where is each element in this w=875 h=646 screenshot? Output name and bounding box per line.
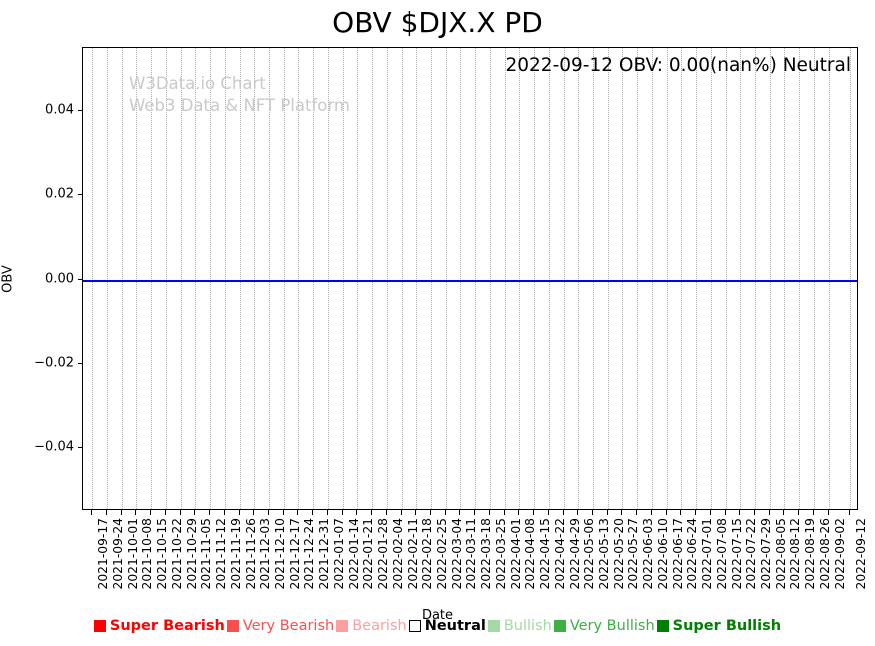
x-axis-tick-mark [150, 510, 151, 515]
gridline [151, 48, 152, 509]
gridline [181, 48, 182, 509]
legend-item[interactable]: Very Bullish [554, 618, 655, 634]
x-axis-tick-label: 2021-12-24 [302, 518, 316, 589]
x-axis-tick-mark [401, 510, 402, 515]
x-axis-tick-label: 2022-08-05 [774, 518, 788, 589]
x-axis-tick-mark [253, 510, 254, 515]
x-axis-tick-mark [813, 510, 814, 515]
y-axis-title: OBV [1, 265, 16, 293]
x-axis-tick-label: 2021-12-17 [288, 518, 302, 589]
x-axis-tick-label: 2022-06-17 [671, 518, 685, 589]
x-axis-tick-mark [474, 510, 475, 515]
gridline [107, 48, 108, 509]
x-axis-tick-label: 2022-07-15 [730, 518, 744, 589]
x-axis-tick-mark [769, 510, 770, 515]
x-axis-tick-label: 2022-01-14 [347, 518, 361, 589]
legend-label: Bullish [504, 618, 552, 634]
x-axis-tick-label: 2022-04-08 [523, 518, 537, 589]
legend-swatch-icon [336, 620, 348, 632]
x-axis-tick-label: 2022-04-15 [538, 518, 552, 589]
x-axis-tick-mark [342, 510, 343, 515]
chart-figure: OBV $DJX.X PD 2022-09-12 OBV: 0.00(nan%)… [0, 0, 875, 646]
legend-item[interactable]: Neutral [409, 618, 486, 634]
x-axis-tick-mark [849, 510, 850, 515]
x-axis-tick-mark [180, 510, 181, 515]
x-axis-tick-mark [356, 510, 357, 515]
gridline [298, 48, 299, 509]
x-axis-tick-label: 2021-12-31 [317, 518, 331, 589]
gridline [578, 48, 579, 509]
x-axis-tick-mark [268, 510, 269, 515]
y-axis-tick-mark [78, 279, 82, 280]
x-axis-tick-label: 2022-07-08 [715, 518, 729, 589]
x-axis-tick-mark [135, 510, 136, 515]
legend-item[interactable]: Super Bearish [94, 618, 225, 634]
gridline [534, 48, 535, 509]
y-axis-tick-label: −0.04 [4, 439, 74, 454]
x-axis-tick-label: 2022-02-25 [435, 518, 449, 589]
gridline [637, 48, 638, 509]
gridline [92, 48, 93, 509]
x-axis-tick-label: 2021-10-29 [185, 518, 199, 589]
x-axis-tick-label: 2022-01-21 [361, 518, 375, 589]
x-axis-tick-mark [592, 510, 593, 515]
page-title: OBV $DJX.X PD [0, 6, 875, 40]
gridline [740, 48, 741, 509]
x-axis-tick-mark [283, 510, 284, 515]
x-axis-tick-mark [121, 510, 122, 515]
x-axis-tick-label: 2022-06-10 [656, 518, 670, 589]
x-axis-tick-mark [754, 510, 755, 515]
x-axis-tick-mark [577, 510, 578, 515]
x-axis-tick-mark [209, 510, 210, 515]
gridline [814, 48, 815, 509]
gridline [681, 48, 682, 509]
x-axis-tick-mark [224, 510, 225, 515]
x-axis-tick-label: 2021-11-26 [244, 518, 258, 589]
y-axis-tick-label: −0.02 [4, 355, 74, 370]
x-axis-tick-label: 2022-03-04 [450, 518, 464, 589]
x-axis-tick-label: 2021-11-12 [214, 518, 228, 589]
gridline [269, 48, 270, 509]
obv-series-line [83, 280, 857, 282]
x-axis-tick-label: 2022-07-01 [700, 518, 714, 589]
legend-swatch-icon [657, 620, 669, 632]
x-axis-tick-mark [445, 510, 446, 515]
x-axis-tick-mark [239, 510, 240, 515]
x-axis-tick-mark [666, 510, 667, 515]
legend-swatch-icon [227, 620, 239, 632]
gridline [829, 48, 830, 509]
gridline [254, 48, 255, 509]
x-axis-tick-label: 2021-09-17 [96, 518, 110, 589]
legend-label: Super Bullish [673, 618, 781, 634]
x-axis-tick-label: 2022-02-18 [420, 518, 434, 589]
x-axis-tick-mark [695, 510, 696, 515]
plot-area: 2022-09-12 OBV: 0.00(nan%) Neutral W3Dat… [82, 47, 858, 510]
x-axis-tick-label: 2022-09-02 [833, 518, 847, 589]
legend-swatch-icon [409, 620, 421, 632]
x-axis-tick-mark [710, 510, 711, 515]
gridline [850, 48, 851, 509]
x-axis-tick-mark [312, 510, 313, 515]
x-axis-tick-label: 2022-03-11 [464, 518, 478, 589]
gridline [372, 48, 373, 509]
legend-swatch-icon [488, 620, 500, 632]
x-axis-tick-label: 2022-05-27 [626, 518, 640, 589]
x-axis-tick-mark [489, 510, 490, 515]
gridline [343, 48, 344, 509]
gridline [328, 48, 329, 509]
gridline [564, 48, 565, 509]
gridline [122, 48, 123, 509]
x-axis-tick-label: 2021-10-22 [170, 518, 184, 589]
x-axis-tick-mark [798, 510, 799, 515]
x-axis-tick-mark [194, 510, 195, 515]
gridline [136, 48, 137, 509]
x-axis-tick-label: 2021-10-15 [155, 518, 169, 589]
gridline [225, 48, 226, 509]
gridline [726, 48, 727, 509]
gridline [784, 48, 785, 509]
gridline [755, 48, 756, 509]
legend-item[interactable]: Super Bullish [657, 618, 781, 634]
gridline [799, 48, 800, 509]
legend-label: Bearish [352, 618, 407, 634]
x-axis-tick-label: 2022-06-03 [641, 518, 655, 589]
legend-item[interactable]: Very Bearish [227, 618, 334, 634]
x-axis-tick-mark [91, 510, 92, 515]
x-axis-tick-mark [327, 510, 328, 515]
x-axis-tick-label: 2022-05-06 [582, 518, 596, 589]
x-axis-tick-mark [636, 510, 637, 515]
legend-label: Very Bearish [243, 618, 334, 634]
watermark: W3Data.io Chart Web3 Data & NFT Platform [129, 73, 350, 117]
x-axis-tick-label: 2022-01-07 [332, 518, 346, 589]
x-axis-tick-label: 2021-10-08 [140, 518, 154, 589]
legend-label: Super Bearish [110, 618, 225, 634]
x-axis-tick-label: 2022-02-04 [391, 518, 405, 589]
gridline [519, 48, 520, 509]
x-axis-tick-mark [621, 510, 622, 515]
x-axis-tick-label: 2022-04-01 [509, 518, 523, 589]
gridline [416, 48, 417, 509]
annotation-label: 2022-09-12 OBV: 0.00(nan%) Neutral [506, 55, 852, 76]
y-axis-tick-label: 0.02 [4, 187, 74, 202]
x-axis-tick-mark [504, 510, 505, 515]
x-axis-tick-label: 2022-01-28 [376, 518, 390, 589]
gridline [402, 48, 403, 509]
gridline [210, 48, 211, 509]
x-axis-tick-mark [386, 510, 387, 515]
x-axis-tick-label: 2022-03-18 [479, 518, 493, 589]
gridline [622, 48, 623, 509]
x-axis-tick-label: 2022-05-13 [597, 518, 611, 589]
x-axis-tick-label: 2021-12-03 [258, 518, 272, 589]
gridline [431, 48, 432, 509]
x-axis-tick-mark [828, 510, 829, 515]
x-axis-tick-mark [415, 510, 416, 515]
x-axis-tick-label: 2022-04-22 [553, 518, 567, 589]
gridline [696, 48, 697, 509]
x-axis-tick-mark [518, 510, 519, 515]
x-axis-tick-mark [563, 510, 564, 515]
legend: Super BearishVery BearishBearishNeutralB… [0, 618, 875, 634]
gridline [446, 48, 447, 509]
watermark-line-2: Web3 Data & NFT Platform [129, 95, 350, 117]
x-axis-tick-label: 2022-02-11 [406, 518, 420, 589]
gridline [357, 48, 358, 509]
gridline [608, 48, 609, 509]
x-axis-tick-label: 2021-10-01 [126, 518, 140, 589]
y-axis-tick-mark [78, 363, 82, 364]
x-axis-tick-label: 2022-09-12 [854, 518, 868, 589]
x-axis-tick-mark [783, 510, 784, 515]
gridline [490, 48, 491, 509]
x-axis-tick-label: 2022-04-29 [568, 518, 582, 589]
gridline [313, 48, 314, 509]
x-axis-tick-mark [725, 510, 726, 515]
x-axis-tick-label: 2021-09-24 [111, 518, 125, 589]
x-axis-tick-label: 2022-08-26 [818, 518, 832, 589]
x-axis-tick-label: 2022-08-19 [803, 518, 817, 589]
legend-item[interactable]: Bullish [488, 618, 552, 634]
x-axis-tick-label: 2021-12-10 [273, 518, 287, 589]
gridline [166, 48, 167, 509]
legend-swatch-icon [554, 620, 566, 632]
x-axis-tick-label: 2021-11-19 [229, 518, 243, 589]
x-axis-tick-mark [651, 510, 652, 515]
x-axis-tick-mark [548, 510, 549, 515]
x-axis-tick-label: 2022-06-24 [685, 518, 699, 589]
gridline [667, 48, 668, 509]
watermark-line-1: W3Data.io Chart [129, 73, 350, 95]
gridline [240, 48, 241, 509]
x-axis-tick-mark [165, 510, 166, 515]
gridline [475, 48, 476, 509]
y-axis-tick-mark [78, 447, 82, 448]
legend-label: Neutral [425, 618, 486, 634]
gridline [195, 48, 196, 509]
x-axis-tick-mark [533, 510, 534, 515]
x-axis-tick-mark [106, 510, 107, 515]
x-axis-tick-mark [459, 510, 460, 515]
x-axis-tick-label: 2022-07-29 [759, 518, 773, 589]
y-axis-tick-label: 0.04 [4, 103, 74, 118]
x-axis-tick-label: 2022-07-22 [744, 518, 758, 589]
x-axis-tick-label: 2022-05-20 [612, 518, 626, 589]
gridline [284, 48, 285, 509]
y-axis-tick-mark [78, 194, 82, 195]
x-axis-tick-mark [371, 510, 372, 515]
x-axis-tick-mark [430, 510, 431, 515]
gridline [652, 48, 653, 509]
gridline [549, 48, 550, 509]
gridline [593, 48, 594, 509]
x-axis-tick-mark [297, 510, 298, 515]
x-axis-tick-label: 2022-08-12 [788, 518, 802, 589]
x-axis-tick-mark [607, 510, 608, 515]
y-axis-tick-mark [78, 110, 82, 111]
legend-item[interactable]: Bearish [336, 618, 407, 634]
x-axis-tick-label: 2021-11-05 [199, 518, 213, 589]
x-axis-tick-label: 2022-03-25 [494, 518, 508, 589]
x-axis-tick-mark [739, 510, 740, 515]
gridline [505, 48, 506, 509]
legend-swatch-icon [94, 620, 106, 632]
gridline [387, 48, 388, 509]
gridline [460, 48, 461, 509]
gridline [711, 48, 712, 509]
x-axis-tick-mark [680, 510, 681, 515]
legend-label: Very Bullish [570, 618, 655, 634]
gridline [770, 48, 771, 509]
